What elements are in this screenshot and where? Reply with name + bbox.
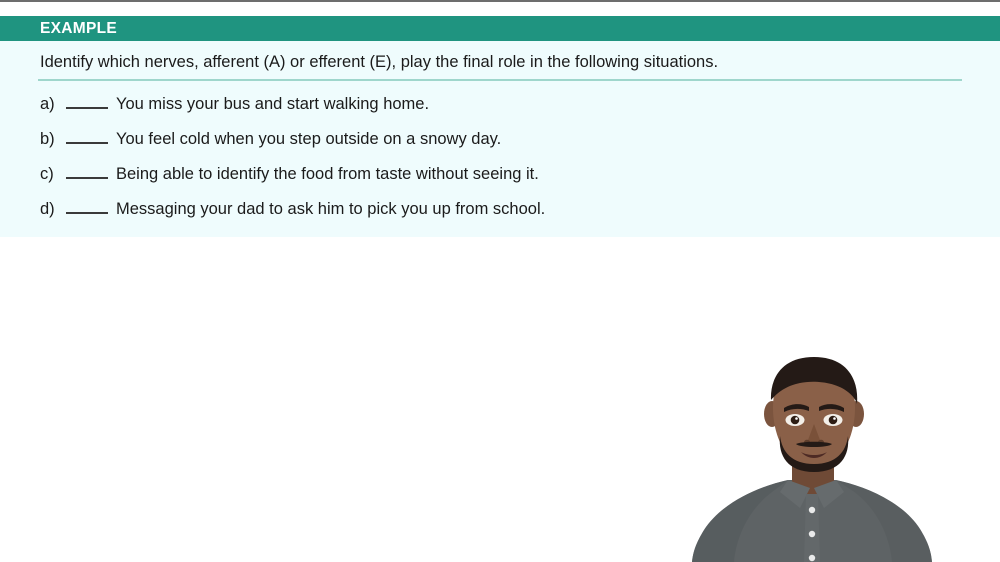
answer-blank[interactable]: [66, 129, 108, 144]
list-item: d) Messaging your dad to ask him to pick…: [40, 199, 960, 234]
list-item: b) You feel cold when you step outside o…: [40, 129, 960, 164]
question-list: a) You miss your bus and start walking h…: [40, 94, 960, 234]
list-item-text: Being able to identify the food from tas…: [116, 164, 539, 184]
example-prompt-divider: [38, 79, 962, 81]
list-item-text: Messaging your dad to ask him to pick yo…: [116, 199, 545, 219]
top-divider-rule: [0, 0, 1000, 2]
example-header-bar: EXAMPLE: [0, 16, 1000, 41]
example-header-label: EXAMPLE: [0, 21, 117, 37]
shirt-placket: [804, 494, 820, 562]
list-item-letter: a): [40, 94, 62, 114]
list-item: a) You miss your bus and start walking h…: [40, 94, 960, 129]
presenter-video-overlay: [660, 352, 1000, 562]
shirt-button: [809, 507, 815, 513]
example-prompt-text: Identify which nerves, afferent (A) or e…: [40, 53, 718, 72]
answer-blank[interactable]: [66, 199, 108, 214]
presenter-figure: [660, 352, 1000, 562]
example-body: Identify which nerves, afferent (A) or e…: [0, 41, 1000, 237]
answer-blank[interactable]: [66, 94, 108, 109]
example-card: EXAMPLE Identify which nerves, afferent …: [0, 16, 1000, 237]
answer-blank[interactable]: [66, 164, 108, 179]
list-item-letter: b): [40, 129, 62, 149]
list-item: c) Being able to identify the food from …: [40, 164, 960, 199]
list-item-text: You miss your bus and start walking home…: [116, 94, 429, 114]
list-item-letter: c): [40, 164, 62, 184]
list-item-text: You feel cold when you step outside on a…: [116, 129, 501, 149]
shirt-button: [809, 531, 815, 537]
shirt-button: [809, 555, 815, 561]
list-item-letter: d): [40, 199, 62, 219]
